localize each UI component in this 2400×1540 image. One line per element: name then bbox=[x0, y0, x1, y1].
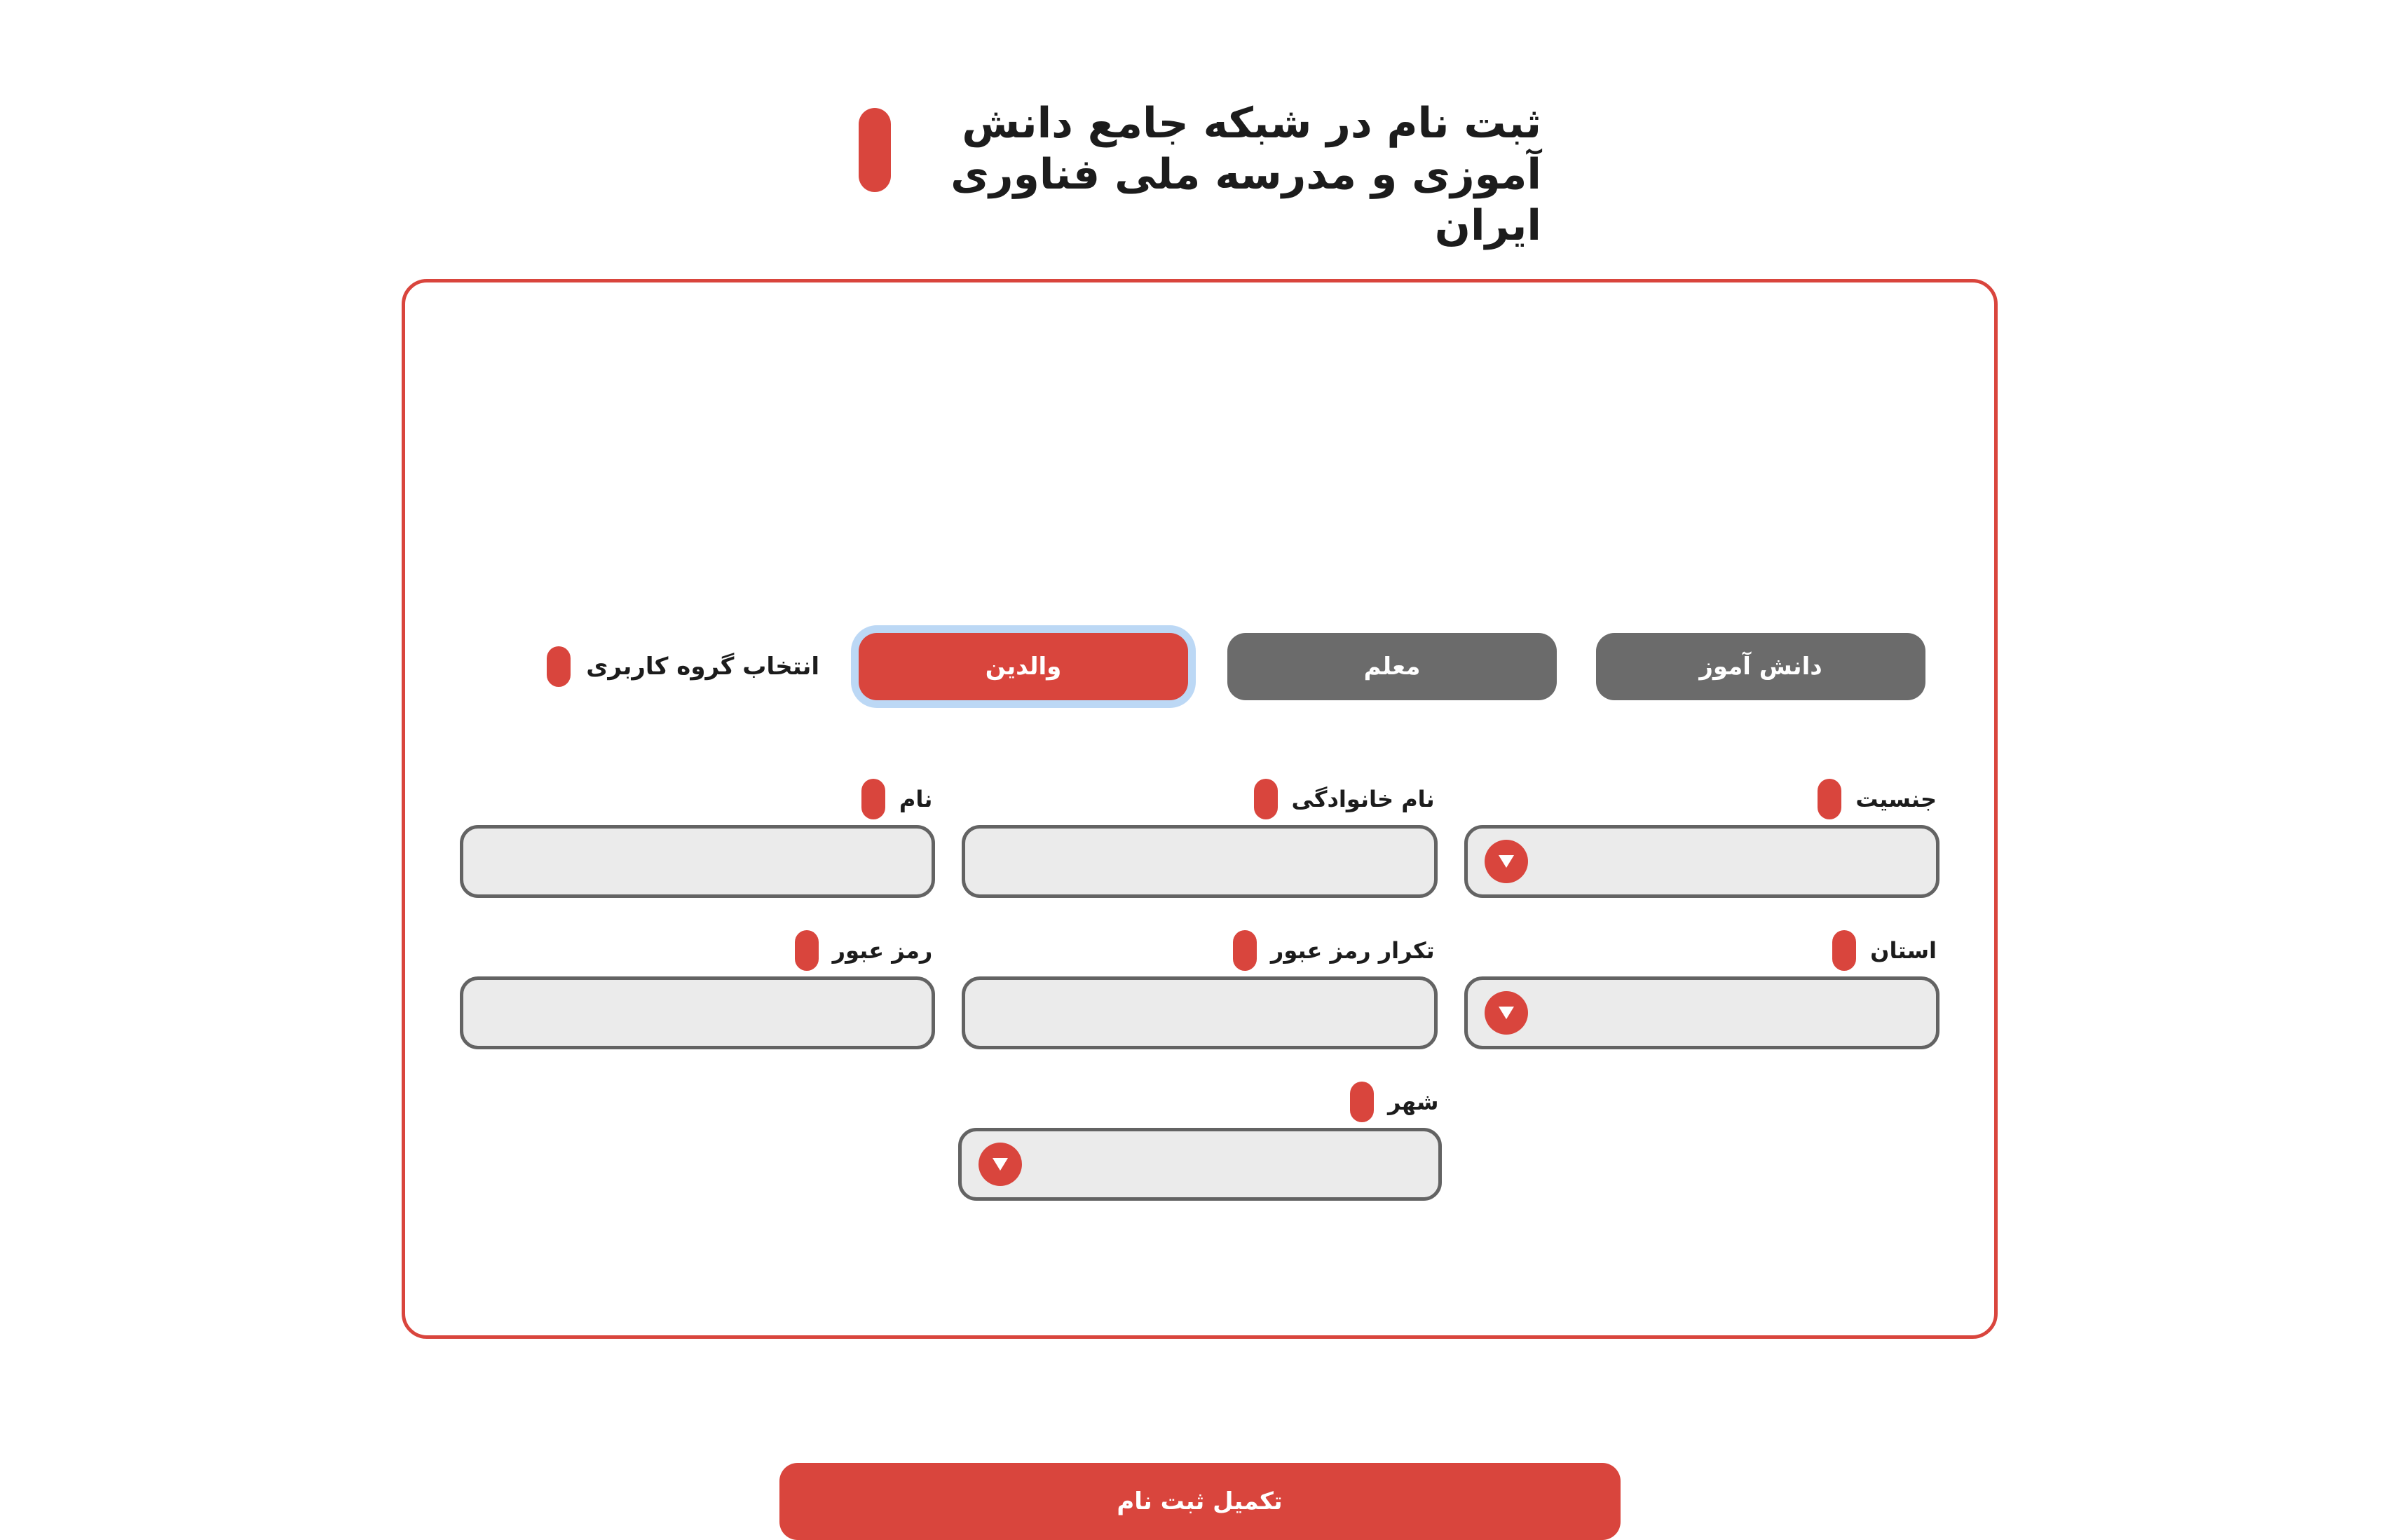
required-marker-pill bbox=[547, 646, 571, 687]
tab-parents[interactable]: والدین bbox=[859, 633, 1188, 700]
field-head-password-repeat: تکرار رمز عبور bbox=[962, 925, 1437, 976]
required-marker-pill bbox=[1254, 779, 1278, 819]
chevron-down-icon[interactable] bbox=[1485, 991, 1528, 1035]
select-gender[interactable] bbox=[1464, 825, 1939, 898]
field-city: شهر bbox=[958, 1076, 1442, 1201]
form-row-1: جنسیت نام خانوادگی bbox=[460, 773, 1939, 898]
submit-row: تکمیل ثبت نام bbox=[405, 1463, 1994, 1540]
required-marker-pill bbox=[1832, 930, 1856, 971]
field-gender: جنسیت bbox=[1464, 773, 1939, 898]
required-marker-pill bbox=[1233, 930, 1257, 971]
required-marker-pill bbox=[1818, 779, 1841, 819]
input-password[interactable] bbox=[460, 976, 935, 1049]
field-head-city: شهر bbox=[958, 1076, 1442, 1128]
chevron-down-icon[interactable] bbox=[1485, 840, 1528, 883]
label-password: رمز عبور bbox=[833, 937, 933, 964]
input-family-name[interactable] bbox=[962, 825, 1437, 898]
label-family-name: نام خانوادگی bbox=[1292, 786, 1435, 812]
field-first-name: نام bbox=[460, 773, 935, 898]
page-header: ثبت نام در شبکه جامع دانش آموزی و مدرسه … bbox=[0, 98, 2400, 252]
input-password-repeat[interactable] bbox=[962, 976, 1437, 1049]
user-group-label: انتخاب گروه کاربری bbox=[586, 653, 819, 681]
title-marker-pill bbox=[859, 108, 891, 192]
complete-registration-button[interactable]: تکمیل ثبت نام bbox=[779, 1463, 1621, 1540]
field-family-name: نام خانوادگی bbox=[962, 773, 1437, 898]
page-title: ثبت نام در شبکه جامع دانش آموزی و مدرسه … bbox=[911, 98, 1541, 252]
label-first-name: نام bbox=[899, 786, 932, 812]
tab-student[interactable]: دانش آموز bbox=[1596, 633, 1925, 700]
user-group-label-wrap: انتخاب گروه کاربری bbox=[547, 646, 819, 687]
field-head-family-name: نام خانوادگی bbox=[962, 773, 1437, 825]
field-password-repeat: تکرار رمز عبور bbox=[962, 925, 1437, 1049]
page-title-line-2: آموزی و مدرسه ملی فناوری ایران bbox=[911, 149, 1541, 252]
form-fields: جنسیت نام خانوادگی bbox=[460, 773, 1939, 1227]
label-password-repeat: تکرار رمز عبور bbox=[1271, 937, 1435, 964]
user-group-selector-row: دانش آموز معلم والدین انتخاب گروه کاربری bbox=[405, 633, 1994, 700]
label-province: استان bbox=[1870, 937, 1937, 964]
field-head-province: استان bbox=[1464, 925, 1939, 976]
field-head-gender: جنسیت bbox=[1464, 773, 1939, 825]
select-province[interactable] bbox=[1464, 976, 1939, 1049]
required-marker-pill bbox=[1350, 1082, 1374, 1122]
required-marker-pill bbox=[861, 779, 885, 819]
input-first-name[interactable] bbox=[460, 825, 935, 898]
required-marker-pill bbox=[795, 930, 819, 971]
tab-teacher[interactable]: معلم bbox=[1227, 633, 1557, 700]
field-province: استان bbox=[1464, 925, 1939, 1049]
field-head-first-name: نام bbox=[460, 773, 935, 825]
chevron-down-icon[interactable] bbox=[979, 1143, 1022, 1186]
page-title-line-1: ثبت نام در شبکه جامع دانش bbox=[911, 98, 1541, 149]
field-password: رمز عبور bbox=[460, 925, 935, 1049]
registration-form-card: دانش آموز معلم والدین انتخاب گروه کاربری… bbox=[402, 279, 1998, 1339]
label-gender: جنسیت bbox=[1855, 786, 1937, 812]
form-row-3: شهر bbox=[460, 1076, 1939, 1201]
field-head-password: رمز عبور bbox=[460, 925, 935, 976]
label-city: شهر bbox=[1388, 1089, 1439, 1115]
form-row-2: استان تکرار رمز عبور bbox=[460, 925, 1939, 1049]
select-city[interactable] bbox=[958, 1128, 1442, 1201]
